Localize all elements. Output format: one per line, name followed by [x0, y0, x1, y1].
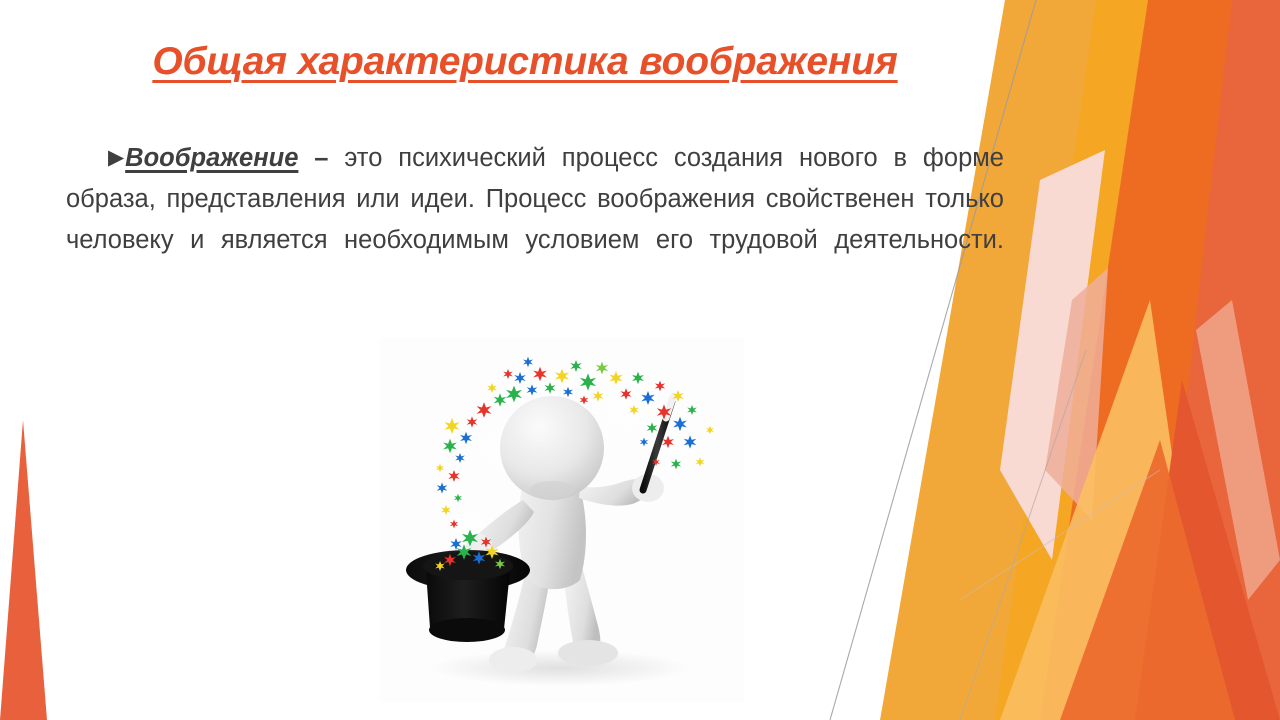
body-block: ▶Воображение – это психический процесс с… [66, 138, 1004, 302]
decor-amber-wedge [880, 0, 1160, 720]
title-block: Общая характеристика воображения [60, 40, 990, 84]
decor-bottom-salmon-sliver [1196, 300, 1280, 600]
decor-pale-pink-wedge [1000, 150, 1105, 560]
body-paragraph: ▶Воображение – это психический процесс с… [66, 138, 1004, 302]
decor-bottom-red-fan [1135, 380, 1280, 720]
body-dash: – [298, 144, 328, 172]
decor-orange-wedge [1040, 0, 1262, 720]
decor-hairline-secondary [960, 350, 1086, 720]
decor-amber-deep-wedge [995, 0, 1215, 720]
triangle-bullet-icon: ▶ [108, 147, 124, 168]
decor-hairline-primary [830, 0, 1036, 720]
presentation-slide: Общая характеристика воображения ▶Вообра… [0, 0, 1280, 720]
decor-amber-field [905, 0, 1280, 720]
decor-bottom-amber-fan [1000, 300, 1210, 720]
hat-crown-base [429, 618, 505, 642]
decor-salmon-overlap [1045, 268, 1108, 520]
decor-hairline-diagonal [960, 470, 1160, 600]
magician-illustration [380, 338, 744, 702]
decor-bottom-orange-fan [1060, 440, 1235, 720]
decor-red-orange-column [1150, 0, 1280, 720]
figure-foot-right [558, 640, 618, 666]
decor-left-spike [0, 420, 47, 720]
body-term: Воображение [125, 144, 298, 172]
figure-foot-left [489, 647, 537, 673]
figure-neck [530, 481, 574, 499]
page-title: Общая характеристика воображения [60, 40, 990, 84]
